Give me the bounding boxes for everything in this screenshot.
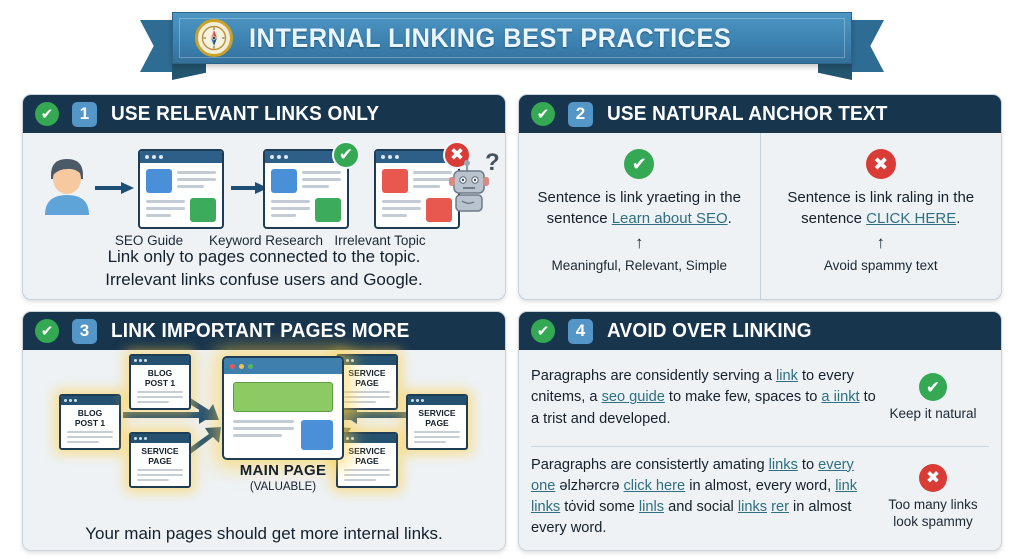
- panel-3-body: BLOGPOST 1 BLOGPOST 1: [23, 350, 505, 550]
- node-lines: [338, 466, 396, 481]
- good-example-note: Meaningful, Relevant, Simple: [531, 258, 748, 273]
- user-icon: [41, 155, 93, 217]
- check-circle-icon: ✔: [531, 319, 555, 343]
- page-node: SERVICEPAGE: [406, 394, 468, 450]
- card-text-lines: [271, 198, 310, 222]
- node-lines: [338, 388, 396, 403]
- inline-link[interactable]: linls: [639, 499, 664, 515]
- inline-link[interactable]: click here: [624, 478, 686, 494]
- arrow-right-icon: [95, 181, 135, 195]
- card-text-lines: [302, 169, 341, 193]
- main-card-hero-block: [233, 382, 333, 412]
- panel-title: AVOID OVER LINKING: [607, 320, 812, 343]
- side-caption-line-1: Too many links: [877, 497, 989, 514]
- card-block-blue: [271, 169, 297, 193]
- page-node: SERVICEPAGE: [336, 354, 398, 410]
- inline-text: Paragraphs are considently serving a: [531, 368, 776, 384]
- node-label: SERVICEPAGE: [131, 447, 189, 466]
- card-content: [376, 163, 458, 222]
- panel-link-important-pages: ✔ 3 LINK IMPORTANT PAGES MORE: [22, 311, 506, 551]
- cross-circle-icon: ✖: [919, 464, 947, 492]
- bad-example-column: ✖ Sentence is link raling in the sentenc…: [760, 133, 1002, 299]
- title-ribbon: INTERNAL LINKING BEST PRACTICES: [0, 6, 1024, 80]
- card-block-red: [382, 169, 408, 193]
- panel-1-illustration: SEO Guide: [23, 133, 505, 241]
- panel-number-badge: 3: [72, 319, 97, 344]
- node-lines: [61, 428, 119, 443]
- check-circle-icon: ✔: [531, 102, 555, 126]
- main-card-titlebar: [224, 358, 342, 374]
- panel-2-body: ✔ Sentence is link yraeting in the sente…: [519, 133, 1001, 299]
- panel-title: USE RELEVANT LINKS ONLY: [111, 103, 379, 126]
- bad-example-note: Avoid spammy text: [773, 258, 990, 273]
- panel-1-header: ✔ 1 USE RELEVANT LINKS ONLY: [23, 95, 505, 133]
- banner-title: INTERNAL LINKING BEST PRACTICES: [249, 23, 731, 54]
- card-block-blue: [146, 169, 172, 193]
- caption-line-1: Your main pages should get more internal…: [23, 522, 505, 545]
- card-titlebar: [140, 151, 222, 163]
- panel-4-body: Paragraphs are considently serving a lin…: [519, 350, 1001, 550]
- page-node: BLOGPOST 1: [59, 394, 121, 450]
- inline-text: and social: [664, 499, 738, 515]
- side-caption-line-2: look spammy: [877, 514, 989, 531]
- inline-text: Paragraphs are consistertly amating: [531, 457, 769, 473]
- over-linking-block-bad: Paragraphs are consistertly amating link…: [519, 447, 1001, 547]
- check-circle-icon: ✔: [919, 373, 947, 401]
- inline-text: in almost, every word,: [685, 478, 835, 494]
- up-arrow-icon: ↑: [773, 234, 990, 251]
- inline-text: to: [798, 457, 818, 473]
- card-text-lines: [146, 198, 185, 222]
- inline-text: əlzhərcrə: [555, 478, 623, 494]
- panel-avoid-over-linking: ✔ 4 AVOID OVER LINKING Paragraphs are co…: [518, 311, 1002, 551]
- good-example-sentence: Sentence is link yraeting in the sentenc…: [531, 187, 748, 230]
- sentence-suffix: .: [956, 210, 960, 227]
- node-label: SERVICEPAGE: [408, 409, 466, 428]
- main-page-title: MAIN PAGE (VALUABLE): [222, 462, 344, 493]
- ribbon-fold-right: [818, 64, 852, 80]
- ribbon-tail-right: [848, 20, 884, 72]
- page-node: BLOGPOST 1: [129, 354, 191, 410]
- side-note-bad: ✖ Too many links look spammy: [877, 464, 989, 531]
- node-titlebar: [338, 434, 396, 443]
- node-titlebar: [61, 396, 119, 405]
- caption-line-1: Link only to pages connected to the topi…: [23, 245, 505, 268]
- panel-1-body: SEO Guide: [23, 133, 505, 299]
- panel-4-header: ✔ 4 AVOID OVER LINKING: [519, 312, 1001, 350]
- ribbon-fold-left: [172, 64, 206, 80]
- inline-link[interactable]: a iinkt: [821, 389, 859, 405]
- side-caption: Keep it natural: [877, 406, 989, 423]
- card-text-lines: [382, 198, 421, 222]
- ribbon-tail-left: [140, 20, 176, 72]
- paragraph-text: Paragraphs are consistertly amating link…: [531, 455, 877, 540]
- side-note-good: ✔ Keep it natural: [877, 373, 989, 423]
- ribbon-band: INTERNAL LINKING BEST PRACTICES: [172, 12, 852, 64]
- anchor-link-good[interactable]: Learn about SEO: [612, 210, 728, 227]
- up-arrow-icon: ↑: [531, 234, 748, 251]
- node-label: SERVICEPAGE: [338, 447, 396, 466]
- node-label: BLOGPOST 1: [131, 369, 189, 388]
- main-card-lines: [233, 420, 294, 450]
- paragraph-text: Paragraphs are considently serving a lin…: [531, 366, 877, 429]
- card-label: Irrelevant Topic: [305, 233, 455, 248]
- inline-link[interactable]: link: [776, 368, 798, 384]
- card-block-green: [190, 198, 216, 222]
- inline-text: to make few, spaces to: [665, 389, 822, 405]
- node-lines: [131, 466, 189, 481]
- infographic-root: INTERNAL LINKING BEST PRACTICES ✔ 1 USE …: [0, 0, 1024, 559]
- question-mark-icon: ?: [485, 149, 500, 177]
- page-node: SERVICEPAGE: [336, 432, 398, 488]
- main-card-block-blue: [301, 420, 333, 450]
- inline-link[interactable]: links: [769, 457, 798, 473]
- cross-circle-icon: ✖: [866, 149, 896, 179]
- panel-title: USE NATURAL ANCHOR TEXT: [607, 103, 888, 126]
- panel-3-caption: Your main pages should get more internal…: [23, 522, 505, 551]
- caption-line-2: Irrelevant links confuse users and Googl…: [23, 268, 505, 291]
- link-diagram: BLOGPOST 1 BLOGPOST 1: [23, 350, 505, 496]
- page-node: SERVICEPAGE: [129, 432, 191, 488]
- check-circle-icon: ✔: [35, 102, 59, 126]
- caption-line-2: Tells Google they are powerful.: [23, 545, 505, 551]
- side-caption: Too many links look spammy: [877, 497, 989, 531]
- panel-title: LINK IMPORTANT PAGES MORE: [111, 320, 410, 343]
- node-label: BLOGPOST 1: [61, 409, 119, 428]
- panel-number-badge: 2: [568, 102, 593, 127]
- panel-grid: ✔ 1 USE RELEVANT LINKS ONLY: [0, 92, 1024, 554]
- compass-icon: [195, 19, 233, 57]
- node-label: SERVICEPAGE: [338, 369, 396, 388]
- main-page-card: [222, 356, 344, 460]
- node-titlebar: [131, 434, 189, 443]
- node-titlebar: [338, 356, 396, 365]
- panel-number-badge: 1: [72, 102, 97, 127]
- check-circle-icon: ✔: [35, 319, 59, 343]
- inline-link[interactable]: seo guide: [602, 389, 665, 405]
- card-content: [265, 163, 347, 222]
- inline-link[interactable]: rеr: [771, 499, 789, 515]
- check-circle-icon: ✔: [332, 141, 360, 169]
- main-page-subtitle: (VALUABLE): [222, 481, 344, 493]
- bad-example-sentence: Sentence is link raling in the sentence …: [773, 187, 990, 230]
- node-titlebar: [408, 396, 466, 405]
- node-lines: [131, 388, 189, 403]
- panel-2-split: ✔ Sentence is link yraeting in the sente…: [519, 133, 1001, 299]
- card-text-lines: [177, 169, 216, 193]
- sentence-suffix: .: [728, 210, 732, 227]
- inline-text: tȯvid some: [560, 499, 639, 515]
- panel-3-header: ✔ 3 LINK IMPORTANT PAGES MORE: [23, 312, 505, 350]
- panel-2-header: ✔ 2 USE NATURAL ANCHOR TEXT: [519, 95, 1001, 133]
- panel-use-relevant-links: ✔ 1 USE RELEVANT LINKS ONLY: [22, 94, 506, 300]
- main-page-title-text: MAIN PAGE: [240, 462, 327, 479]
- node-lines: [408, 428, 466, 443]
- panel-1-caption: Link only to pages connected to the topi…: [23, 245, 505, 291]
- anchor-link-bad[interactable]: CLICK HERE: [866, 210, 956, 227]
- card-block-green: [315, 198, 341, 222]
- panel-number-badge: 4: [568, 319, 593, 344]
- node-titlebar: [131, 356, 189, 365]
- good-example-column: ✔ Sentence is link yraeting in the sente…: [519, 133, 760, 299]
- over-linking-block-good: Paragraphs are considently serving a lin…: [519, 350, 1001, 446]
- check-circle-icon: ✔: [624, 149, 654, 179]
- main-card-content: [224, 374, 342, 458]
- page-card-seo-guide: [138, 149, 224, 229]
- panel-natural-anchor-text: ✔ 2 USE NATURAL ANCHOR TEXT ✔ Sentence i…: [518, 94, 1002, 300]
- card-content: [140, 163, 222, 222]
- inline-link[interactable]: links: [738, 499, 767, 515]
